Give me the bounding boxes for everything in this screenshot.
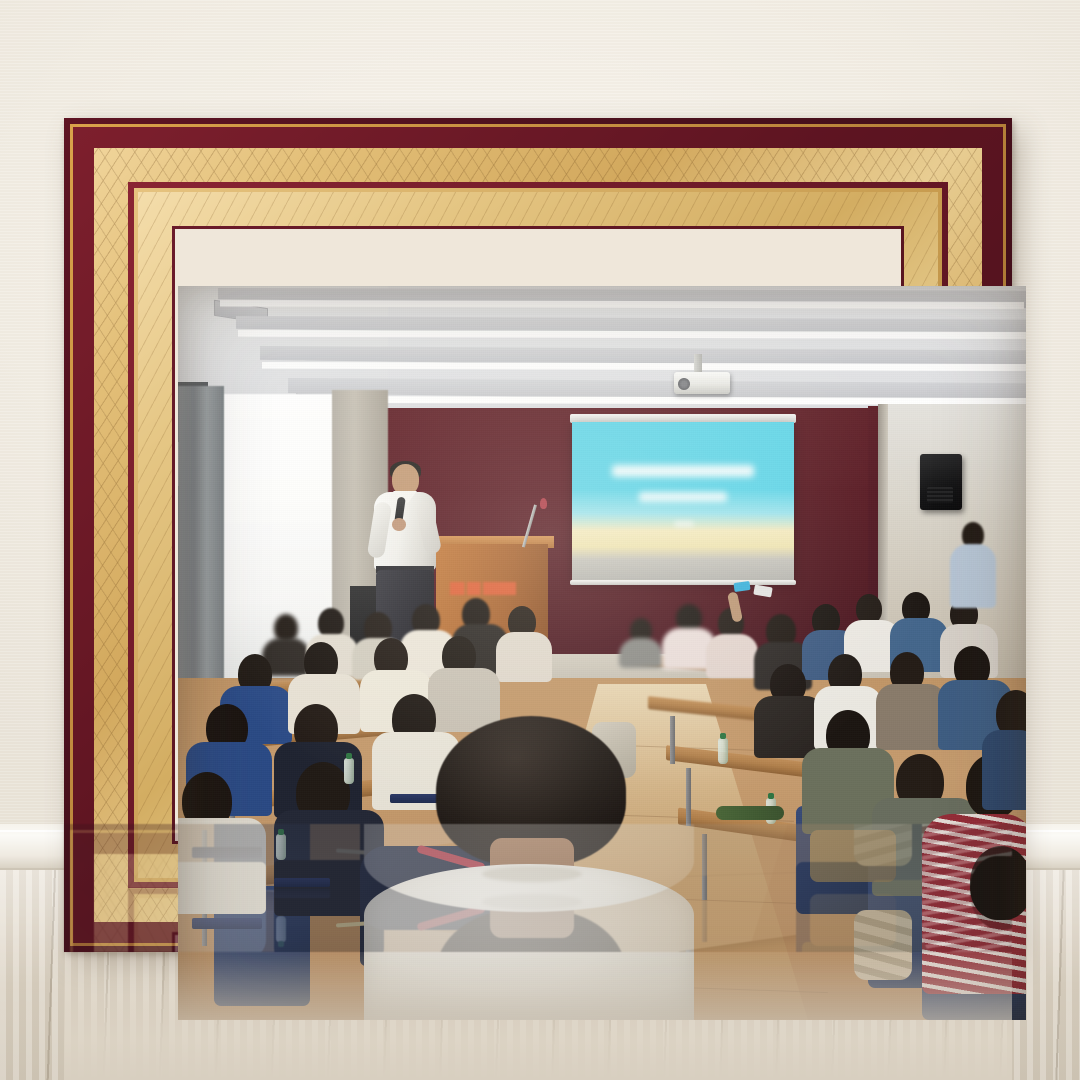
water-bottle-l1 xyxy=(344,758,354,784)
audience-body-r11 xyxy=(876,684,946,750)
green-item-on-desk xyxy=(716,806,784,820)
presenter-head xyxy=(392,464,419,495)
audience-legs-khaki xyxy=(810,830,896,882)
audience-body-l6 xyxy=(496,632,552,682)
notebook-l3 xyxy=(192,918,262,929)
standing-person-body xyxy=(950,544,996,608)
podium-logo-text xyxy=(450,582,516,595)
picture-frame[interactable] xyxy=(64,118,1012,952)
presenter-hand xyxy=(392,518,406,531)
audience-body-r1 xyxy=(619,638,663,668)
slide-subheading-blur xyxy=(639,492,728,502)
desk-leg-r3 xyxy=(702,834,707,900)
patterned-bag xyxy=(854,910,912,980)
audience-head-r16 xyxy=(970,846,1026,920)
water-bottle-l2 xyxy=(276,834,286,860)
slide-heading-blur xyxy=(612,465,754,477)
foreground-collar xyxy=(482,866,582,882)
podium-mic-head xyxy=(540,498,547,509)
photo-scene xyxy=(178,286,1026,1020)
photograph[interactable] xyxy=(178,286,1026,1020)
wall-speaker-icon xyxy=(920,454,962,510)
projector-lens-icon xyxy=(678,378,690,390)
slide-footer-blur xyxy=(674,521,694,527)
audience-body-r15 xyxy=(982,730,1026,810)
audience-body-r3 xyxy=(706,634,758,678)
audience-body-l14 xyxy=(178,818,266,914)
projection-screen xyxy=(572,422,794,582)
notebook-l1 xyxy=(274,878,330,887)
screen-bottom-bar xyxy=(570,580,796,585)
water-bottle-r1 xyxy=(718,738,728,764)
projector-mount xyxy=(694,354,702,374)
foreground-white-tshirt xyxy=(364,864,694,1020)
foreground-attendee xyxy=(364,716,694,1020)
